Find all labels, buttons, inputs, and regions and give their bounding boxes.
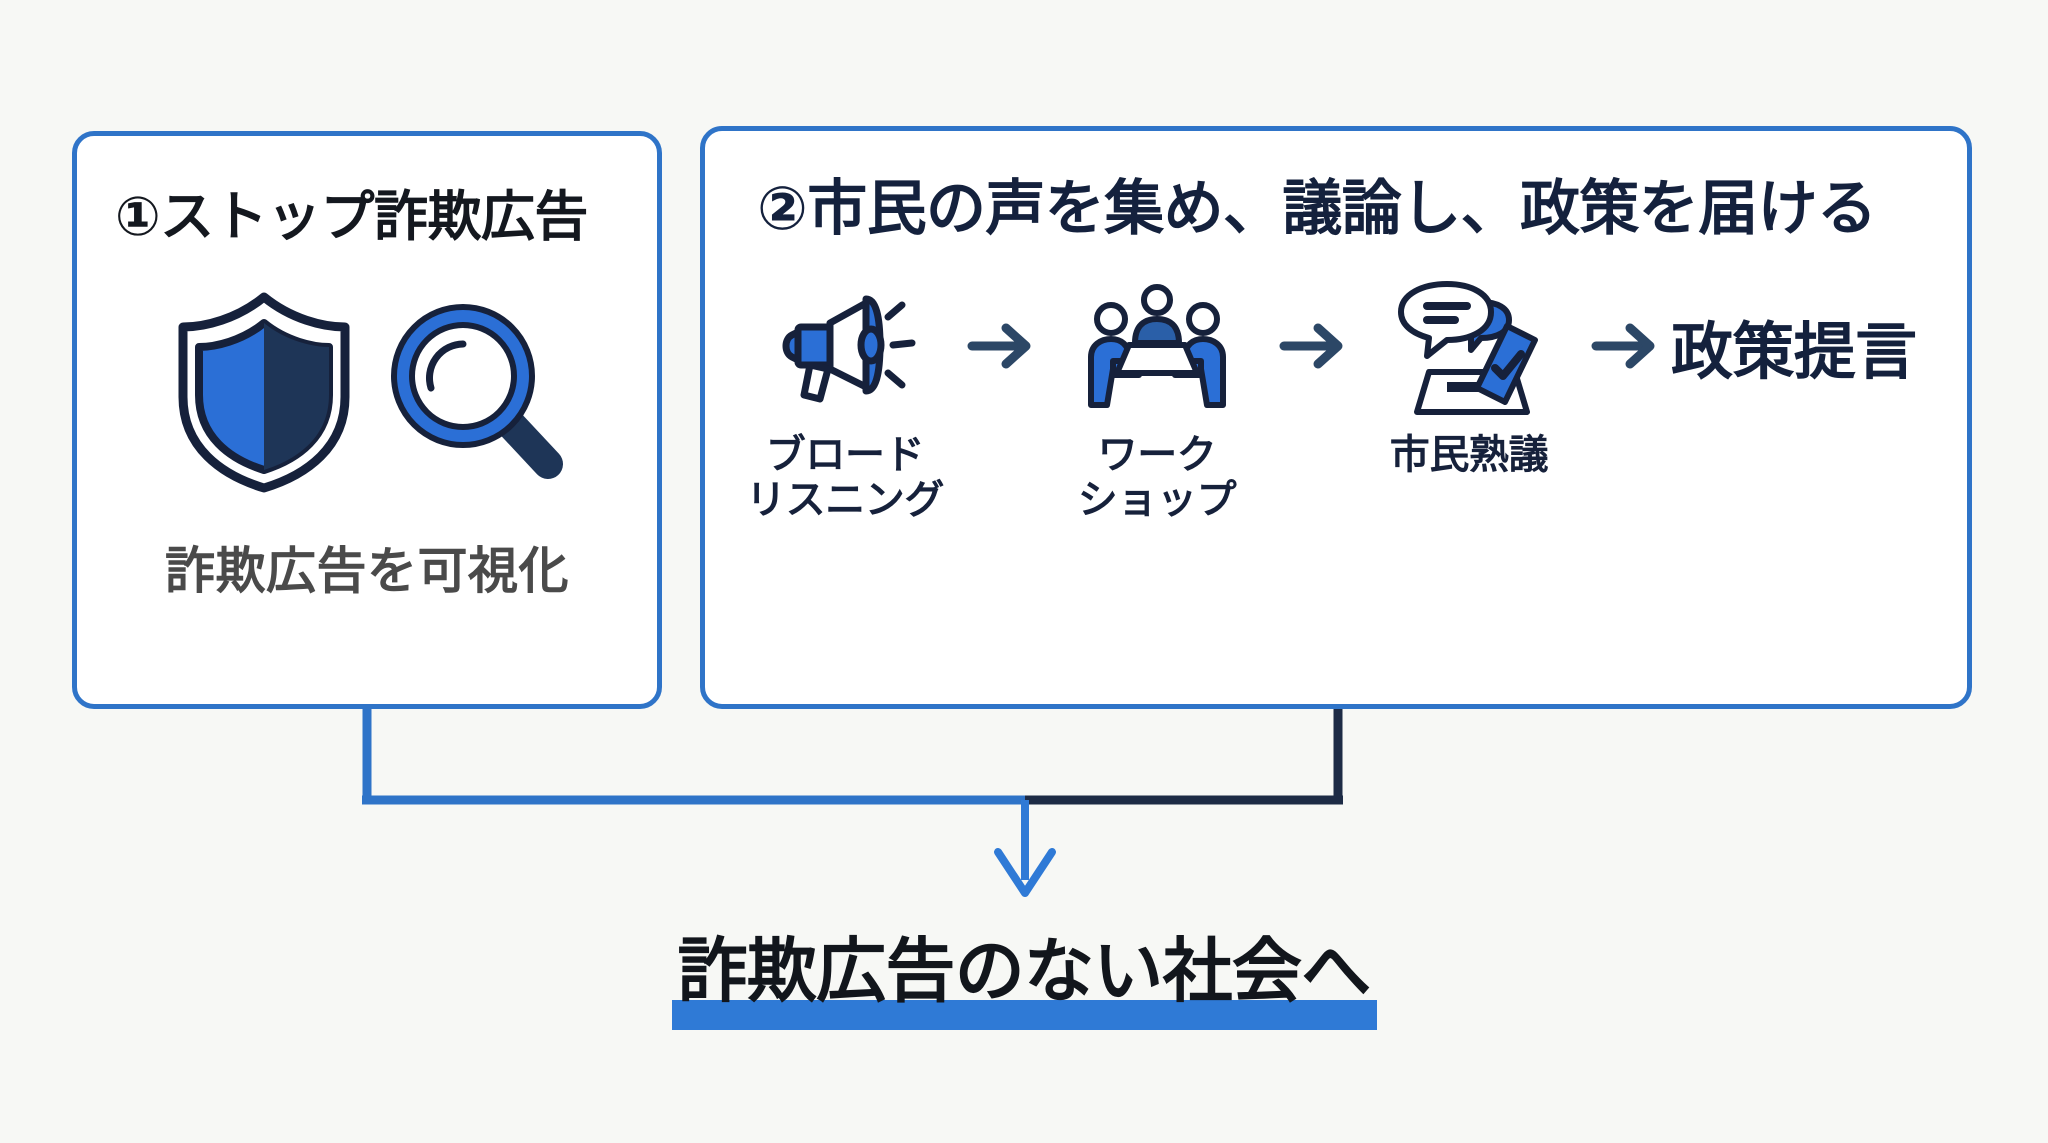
flow-step-citizen-deliberation[interactable]: 市民熟議 — [1359, 271, 1579, 478]
label-line-2: ショップ — [1078, 478, 1236, 523]
label-line-1: ブロード — [746, 433, 944, 478]
flow-step-broad-listening-label: ブロード リスニング — [746, 433, 944, 523]
workshop-people-table-icon — [1077, 271, 1237, 421]
flow-outcome-policy-proposal: 政策提言 — [1671, 271, 1917, 421]
magnifier-icon — [385, 296, 565, 491]
headline-text: 詐欺広告のない社会へ — [678, 932, 1371, 1010]
card-citizen-voice[interactable]: ②市民の声を集め、議論し、政策を届ける — [700, 126, 1972, 709]
card-one-title: ①ストップ詐欺広告 — [115, 190, 588, 244]
process-flow: ブロード リスニング — [735, 271, 1935, 601]
flow-step-citizen-deliberation-label: 市民熟議 — [1390, 433, 1548, 478]
label-line-1: ワーク — [1078, 433, 1236, 478]
shield-icon — [169, 289, 359, 499]
label-line-1: 市民熟議 — [1390, 433, 1548, 478]
flow-step-workshop-label: ワーク ショップ — [1078, 433, 1236, 523]
card-one-icon-row — [77, 286, 657, 501]
card-two-title: ②市民の声を集め、議論し、政策を届ける — [757, 179, 1876, 239]
flow-step-workshop[interactable]: ワーク ショップ — [1047, 271, 1267, 523]
ballot-speech-bubble-icon — [1389, 271, 1549, 421]
flow-step-broad-listening[interactable]: ブロード リスニング — [735, 271, 955, 523]
megaphone-icon — [770, 271, 920, 421]
flow-arrow-1 — [955, 271, 1047, 421]
infographic-canvas: ①ストップ詐欺広告 詐欺広告を — [0, 0, 2048, 1143]
connector-arrowhead — [998, 852, 1052, 893]
label-line-2: リスニング — [746, 478, 944, 523]
card-stop-fraud-ads[interactable]: ①ストップ詐欺広告 詐欺広告を — [72, 131, 662, 709]
card-one-caption: 詐欺広告を可視化 — [77, 531, 657, 603]
bottom-headline: 詐欺広告のない社会へ — [0, 915, 2048, 1030]
flow-arrow-3 — [1579, 271, 1671, 421]
flow-arrow-2 — [1267, 271, 1359, 421]
headline-inner: 詐欺広告のない社会へ — [672, 915, 1377, 1030]
